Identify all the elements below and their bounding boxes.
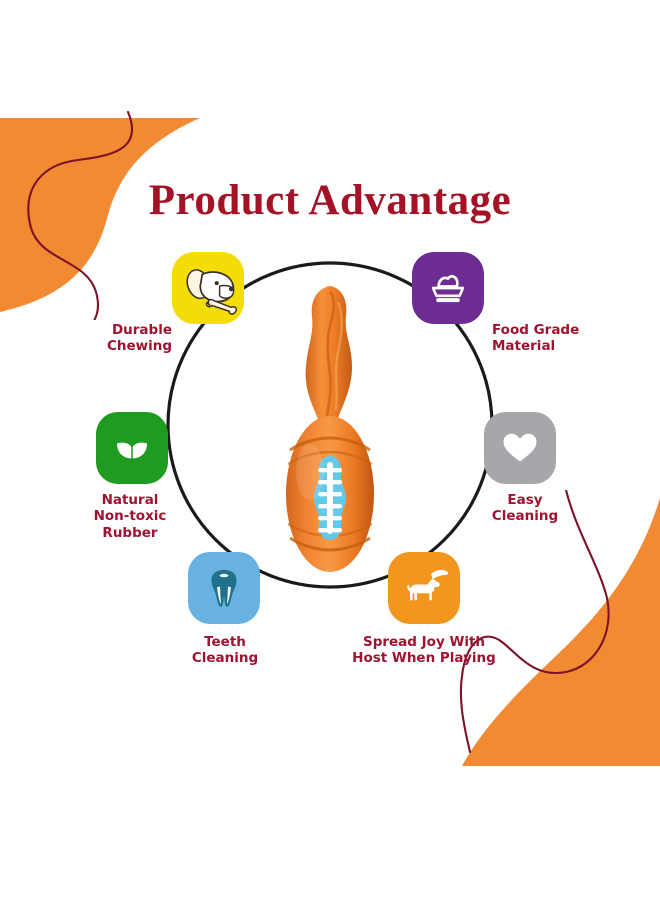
feature-label: Teeth Cleaning [152, 634, 298, 667]
infographic-page: Product Advantage [0, 0, 660, 900]
heart-icon [484, 412, 556, 484]
feature-diagram: Durable Chewing Food Grade Material [0, 230, 660, 700]
product-photo [272, 282, 388, 582]
food-bowl-icon [412, 252, 484, 324]
dog-with-hand-icon [388, 552, 460, 624]
feature-label: Food Grade Material [492, 322, 592, 355]
tooth-icon [188, 552, 260, 624]
feature-label: Natural Non-toxic Rubber [62, 492, 198, 541]
feature-label: Durable Chewing [86, 322, 172, 355]
feature-label: Easy Cleaning [480, 492, 570, 525]
leaves-icon [96, 412, 168, 484]
feature-label: Spread Joy With Host When Playing [324, 634, 524, 667]
dog-head-with-bone-icon [172, 252, 244, 324]
page-title: Product Advantage [0, 176, 660, 225]
